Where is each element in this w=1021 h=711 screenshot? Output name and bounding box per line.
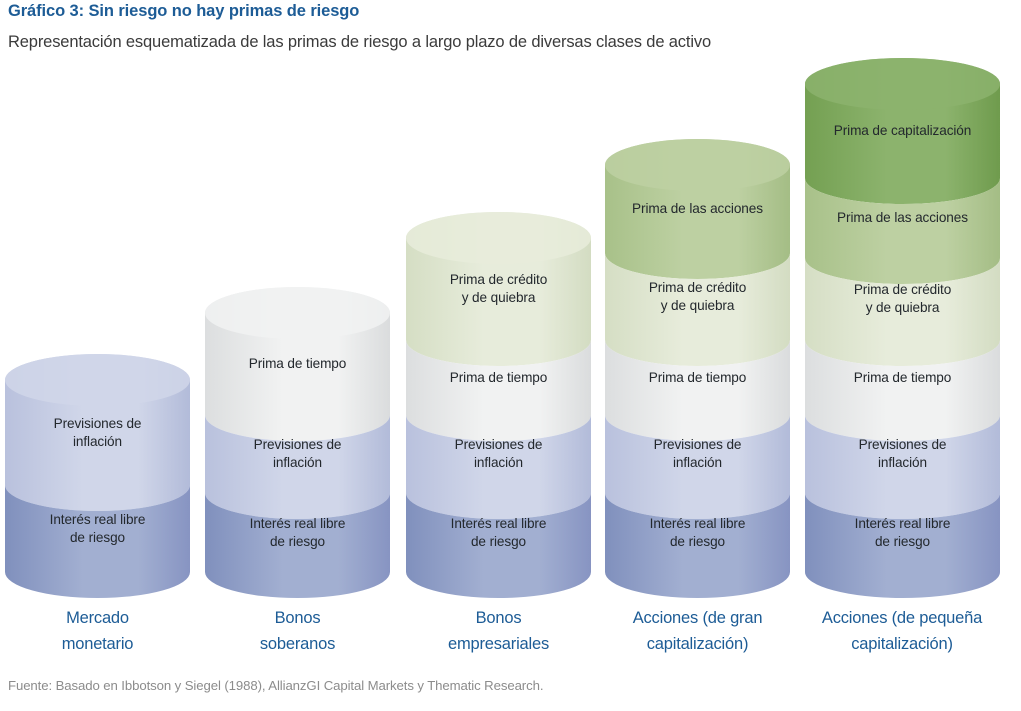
category-label-2: Bonos soberanos <box>205 606 390 657</box>
category-label-5: Acciones (de pequeña capitalización) <box>798 606 1006 657</box>
source-note: Fuente: Basado en Ibbotson y Siegel (198… <box>8 678 543 693</box>
cylinder-top-ellipse <box>406 212 591 264</box>
cylinder-bonos-soberanos: Prima de tiempoPrevisiones de inflaciónI… <box>205 287 390 598</box>
chart-page: Gráfico 3: Sin riesgo no hay primas de r… <box>0 0 1021 711</box>
cylinder-bonos-empresariales: Prima de crédito y de quiebraPrima de ti… <box>406 212 591 598</box>
cylinder-geometry <box>205 287 390 598</box>
cylinder-mercado-monetario: Previsiones de inflaciónInterés real lib… <box>5 354 190 598</box>
cylinder-top-ellipse <box>205 287 390 339</box>
chart-plot-area: Previsiones de inflaciónInterés real lib… <box>0 0 1021 600</box>
cylinder-top-ellipse <box>605 139 790 191</box>
cylinder-top-ellipse <box>5 354 190 406</box>
cylinder-geometry <box>605 139 790 598</box>
category-label-3: Bonos empresariales <box>400 606 597 657</box>
cylinder-geometry <box>5 354 190 598</box>
cylinder-geometry <box>406 212 591 598</box>
cylinder-acciones-gran-capitalizacion: Prima de las accionesPrima de crédito y … <box>605 139 790 598</box>
cylinder-acciones-pequena-capitalizacion: Prima de capitalizaciónPrima de las acci… <box>805 58 1000 598</box>
category-label-4: Acciones (de gran capitalización) <box>600 606 795 657</box>
cylinder-top-ellipse <box>805 58 1000 110</box>
category-label-1: Mercado monetario <box>5 606 190 657</box>
cylinder-geometry <box>805 58 1000 598</box>
